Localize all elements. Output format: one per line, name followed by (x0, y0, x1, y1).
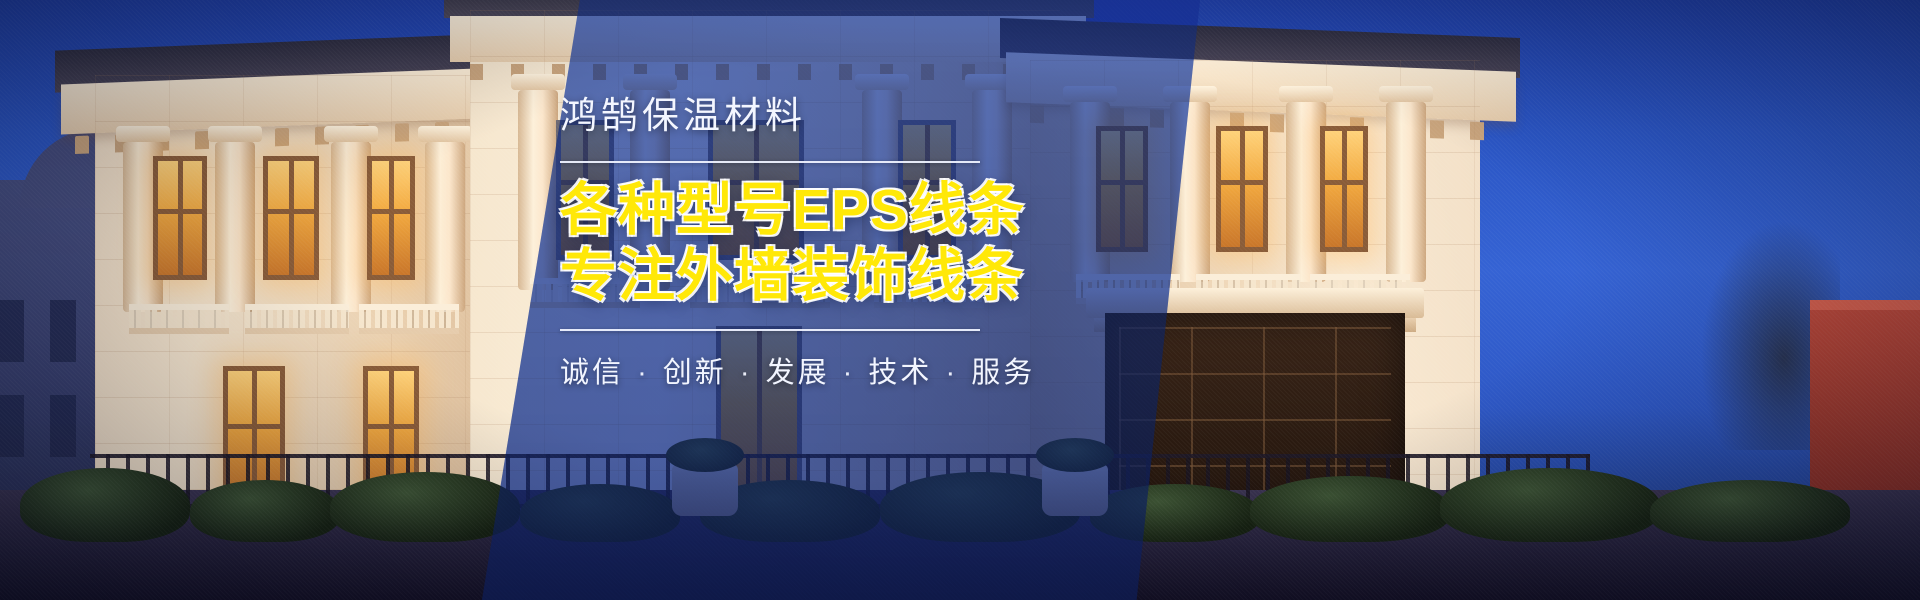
divider-top (560, 161, 980, 163)
tagline-separator: · (830, 357, 869, 389)
balustrade (359, 304, 459, 334)
balustrade (129, 304, 229, 334)
banner-copy: 鸿鹄保温材料 各种型号EPS线条 专注外墙装饰线条 诚信 · 创新 · 发展 ·… (560, 96, 1120, 391)
column (331, 142, 371, 312)
lit-window (263, 156, 319, 280)
column (1386, 102, 1426, 282)
lit-window (1216, 126, 1268, 252)
cornice-center (450, 16, 1086, 62)
headline-line-1: 各种型号EPS线条 (560, 177, 1120, 243)
tagline-separator: · (727, 357, 766, 389)
tagline-item: 发展 (766, 357, 830, 389)
hero-banner: 鸿鹄保温材料 各种型号EPS线条 专注外墙装饰线条 诚信 · 创新 · 发展 ·… (0, 0, 1920, 600)
lit-window (153, 156, 207, 280)
planter-right (1042, 464, 1108, 516)
lit-window (1320, 126, 1368, 252)
shrub-row (0, 450, 1920, 542)
tagline-item: 服务 (971, 357, 1035, 389)
divider-bottom (560, 329, 980, 331)
column (215, 142, 255, 312)
balustrade (245, 304, 349, 334)
tagline-item: 诚信 (560, 357, 624, 389)
tagline: 诚信 · 创新 · 发展 · 技术 · 服务 (560, 349, 1120, 391)
brand-name: 鸿鹄保温材料 (560, 96, 1120, 137)
tagline-item: 创新 (663, 357, 727, 389)
headline-line-2: 专注外墙装饰线条 (560, 243, 1120, 309)
tagline-separator: · (932, 357, 971, 389)
column (425, 142, 465, 312)
planter-left (672, 464, 738, 516)
lit-window (367, 156, 415, 280)
tagline-separator: · (624, 357, 663, 389)
tagline-item: 技术 (868, 357, 932, 389)
column (1170, 102, 1210, 282)
column (518, 90, 558, 290)
